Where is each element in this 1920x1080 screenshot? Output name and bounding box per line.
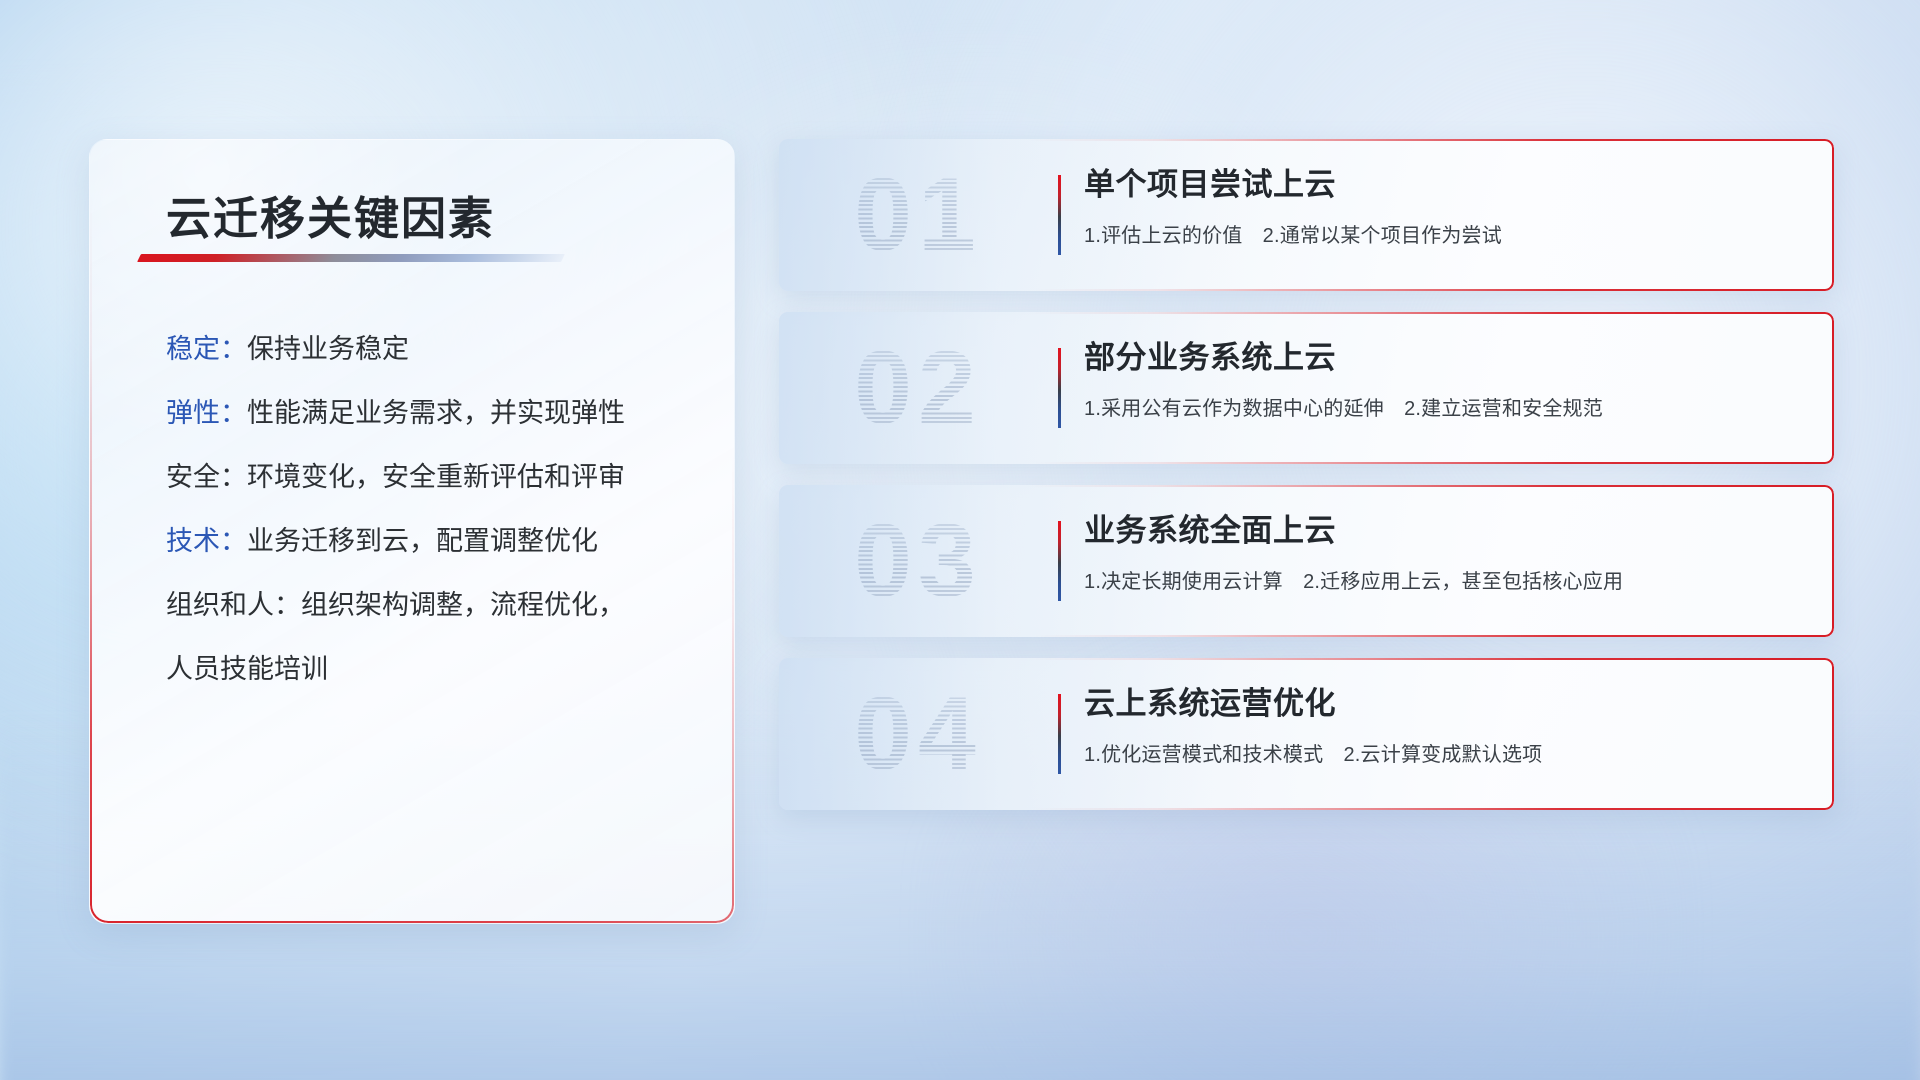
key-factors-card: 云迁移关键因素 稳定：保持业务稳定弹性：性能满足业务需求，并实现弹性安全：环境变… (89, 139, 735, 924)
step-card-03[interactable]: 03业务系统全面上云1.决定长期使用云计算 2.迁移应用上云，甚至包括核心应用 (779, 485, 1834, 637)
step-text-block: 业务系统全面上云1.决定长期使用云计算 2.迁移应用上云，甚至包括核心应用 (1084, 513, 1623, 594)
step-accent-bar (1058, 521, 1061, 601)
factor-row: 安全：环境变化，安全重新评估和评审 (166, 464, 694, 491)
step-card-02[interactable]: 02部分业务系统上云1.采用公有云作为数据中心的延伸 2.建立运营和安全规范 (779, 312, 1834, 464)
factor-key: 弹性： (166, 398, 247, 428)
page-title: 云迁移关键因素 (166, 182, 495, 247)
step-number: 02 (803, 322, 1033, 454)
factor-row: 人员技能培训 (166, 656, 694, 683)
factor-key: 安全： (166, 462, 247, 492)
step-number-text: 02 (854, 329, 982, 448)
step-title: 云上系统运营优化 (1084, 686, 1542, 722)
step-title: 部分业务系统上云 (1084, 340, 1603, 376)
step-title: 单个项目尝试上云 (1084, 167, 1502, 203)
step-subtitle: 1.决定长期使用云计算 2.迁移应用上云，甚至包括核心应用 (1084, 565, 1623, 594)
step-number: 03 (803, 495, 1033, 627)
step-subtitle: 1.采用公有云作为数据中心的延伸 2.建立运营和安全规范 (1084, 392, 1603, 421)
step-accent-bar (1058, 348, 1061, 428)
factor-row: 技术：业务迁移到云，配置调整优化 (166, 528, 694, 555)
step-subtitle: 1.优化运营模式和技术模式 2.云计算变成默认选项 (1084, 738, 1542, 767)
step-accent-bar (1058, 175, 1061, 255)
step-accent-bar (1058, 694, 1061, 774)
factor-list: 稳定：保持业务稳定弹性：性能满足业务需求，并实现弹性安全：环境变化，安全重新评估… (166, 336, 694, 683)
factor-row: 稳定：保持业务稳定 (166, 336, 694, 363)
factor-row: 组织和人：组织架构调整，流程优化， (166, 592, 694, 619)
factor-value: 组织架构调整，流程优化， (301, 590, 625, 620)
factor-value: 保持业务稳定 (247, 334, 409, 364)
step-text-block: 单个项目尝试上云1.评估上云的价值 2.通常以某个项目作为尝试 (1084, 167, 1502, 248)
factor-value: 环境变化，安全重新评估和评审 (247, 462, 625, 492)
factor-row: 弹性：性能满足业务需求，并实现弹性 (166, 400, 694, 427)
step-card-01[interactable]: 01单个项目尝试上云1.评估上云的价值 2.通常以某个项目作为尝试 (779, 139, 1834, 291)
step-title: 业务系统全面上云 (1084, 513, 1623, 549)
factor-value: 业务迁移到云，配置调整优化 (247, 526, 598, 556)
step-text-block: 云上系统运营优化1.优化运营模式和技术模式 2.云计算变成默认选项 (1084, 686, 1542, 767)
step-text-block: 部分业务系统上云1.采用公有云作为数据中心的延伸 2.建立运营和安全规范 (1084, 340, 1603, 421)
factor-key: 技术： (166, 526, 247, 556)
step-number: 01 (803, 149, 1033, 281)
step-subtitle: 1.评估上云的价值 2.通常以某个项目作为尝试 (1084, 219, 1502, 248)
factor-key: 稳定： (166, 334, 247, 364)
step-card-04[interactable]: 04云上系统运营优化1.优化运营模式和技术模式 2.云计算变成默认选项 (779, 658, 1834, 810)
step-number: 04 (803, 668, 1033, 800)
factor-key: 组织和人： (166, 590, 301, 620)
factor-value: 性能满足业务需求，并实现弹性 (247, 398, 625, 428)
step-number-text: 01 (854, 156, 982, 275)
factor-value: 人员技能培训 (166, 654, 328, 684)
slide-stage: 云迁移关键因素 稳定：保持业务稳定弹性：性能满足业务需求，并实现弹性安全：环境变… (0, 0, 1920, 1080)
step-number-text: 03 (854, 502, 982, 621)
title-underline-accent (137, 254, 565, 262)
step-number-text: 04 (854, 675, 982, 794)
